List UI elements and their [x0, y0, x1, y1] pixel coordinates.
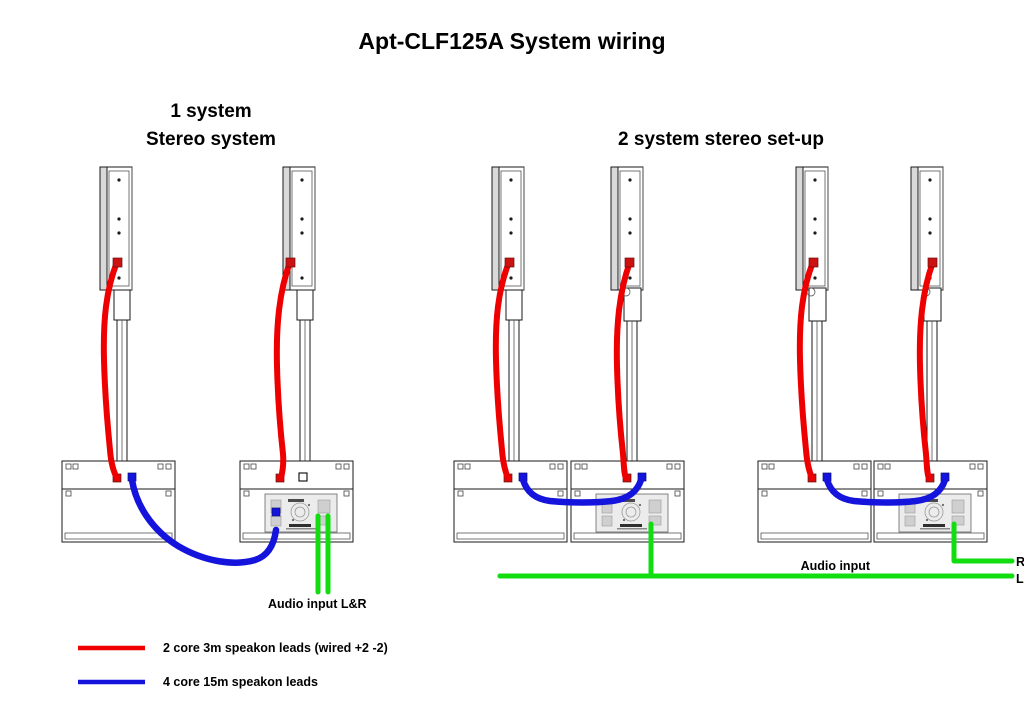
speakon-spare-connector-2[interactable] [299, 473, 307, 481]
column-input-connector-5[interactable] [809, 258, 818, 267]
column-input-connector-6[interactable] [928, 258, 937, 267]
section-heading-left-line2: Stereo system [146, 129, 276, 150]
section-heading-left-line1: 1 system [170, 101, 251, 122]
column-input-connector-1[interactable] [113, 258, 122, 267]
legend-label-0: 2 core 3m speakon leads (wired +2 -2) [163, 641, 388, 655]
legend-label-1: 4 core 15m speakon leads [163, 675, 318, 689]
section-heading-right: 2 system stereo set-up [618, 129, 824, 150]
audio-input-label-left: Audio input L&R [268, 597, 367, 611]
column-input-connector-4[interactable] [625, 258, 634, 267]
column-input-connector-3[interactable] [505, 258, 514, 267]
channel-label-right: R [1016, 555, 1024, 569]
amp-speakon-input-2[interactable] [272, 508, 280, 516]
channel-label-left: L [1016, 572, 1024, 586]
page-title: Apt-CLF125A System wiring [358, 28, 665, 54]
wiring-diagram: Apt-CLF125A System wiring 1 system Stere… [0, 0, 1024, 724]
audio-input-label-right: Audio input [801, 559, 871, 573]
column-input-connector-2[interactable] [286, 258, 295, 267]
